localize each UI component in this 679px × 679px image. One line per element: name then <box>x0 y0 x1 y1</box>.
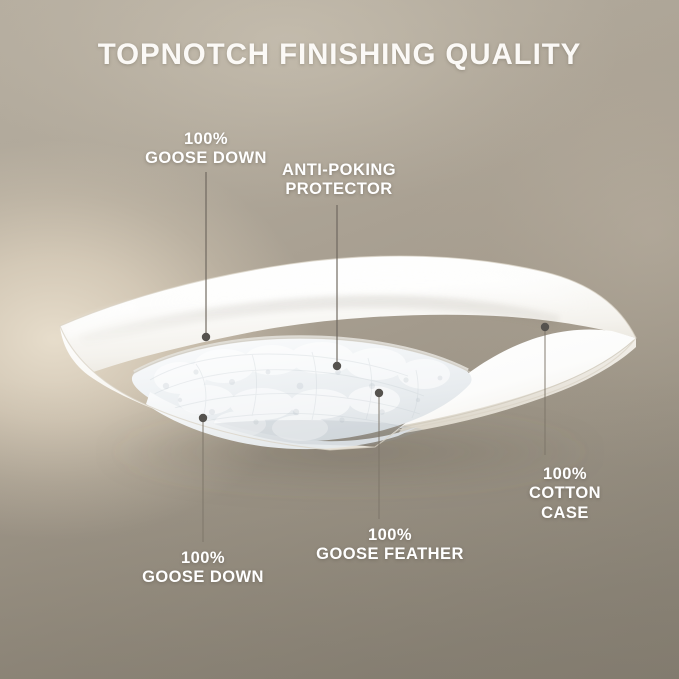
leader-cotton-case <box>541 323 549 455</box>
leader-goose-down-bottom <box>199 414 207 542</box>
callout-label-goose-down-bottom: 100% GOOSE DOWN <box>142 549 264 588</box>
leader-goose-down-top <box>202 172 210 341</box>
callout-leaders <box>0 0 679 679</box>
callout-label-goose-feather: 100% GOOSE FEATHER <box>316 526 464 565</box>
page-title: TOPNOTCH FINISHING QUALITY <box>0 38 679 72</box>
callout-label-cotton-case: 100% COTTON CASE <box>508 465 622 523</box>
leader-anti-poking-protector <box>333 205 341 370</box>
callout-label-goose-down-top: 100% GOOSE DOWN <box>145 130 267 169</box>
product-infographic: TOPNOTCH FINISHING QUALITY 100% GOOSE DO… <box>0 0 679 679</box>
leader-goose-feather <box>375 389 383 519</box>
callout-label-anti-poking-protector: ANTI-POKING PROTECTOR <box>282 161 396 200</box>
